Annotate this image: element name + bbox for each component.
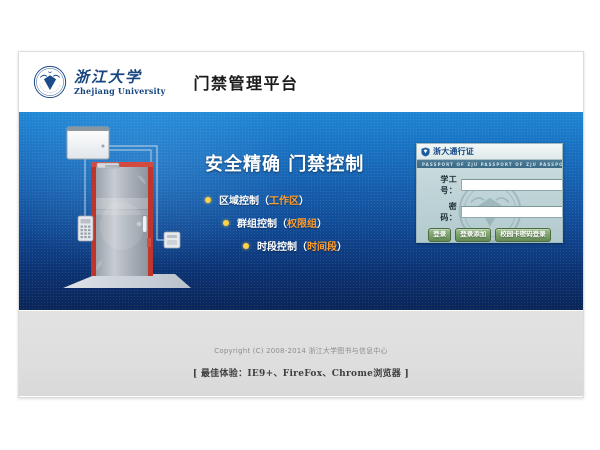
account-input[interactable] [461,179,563,191]
bullet-dot-icon [205,197,211,203]
copyright-text: Copyright (C) 2008-2014 浙江大学图书与信息中心 [19,311,583,356]
bullet-dot-icon [243,243,249,249]
password-field-label: 密 码： [424,201,457,223]
login-panel-titlebar: 浙大通行证 [417,144,562,160]
access-control-door-illustration [39,120,199,305]
feature-list: 区域控制（工作区） 群组控制（权限组） 时段控制（时间段） [205,192,420,253]
account-field-label: 学工号： [424,174,457,196]
login-button[interactable]: 登录 [428,228,451,242]
feature-item-area-control: 区域控制（工作区） [205,192,420,207]
feature-text-highlight: 时间段 [307,238,337,253]
shield-icon [421,147,430,157]
login-field-row-account: 学工号： [424,174,555,196]
password-input[interactable] [461,206,563,218]
page-root: 浙江大学 Zhejiang University 门禁管理平台 [0,0,600,450]
feature-text-suffix: ） [317,215,327,230]
login-panel-subbar: PASSPORT OF ZJU PASSPORT OF ZJU PASSPORT… [417,160,562,168]
slogan-block: 安全精确 门禁控制 区域控制（工作区） 群组控制（权限组） 时段控制（时间段） [205,150,420,261]
feature-text-suffix: ） [299,192,309,207]
feature-text-prefix: 群组控制（ [237,215,287,230]
login-panel: 浙大通行证 PASSPORT OF ZJU PASSPORT OF ZJU PA… [416,143,563,243]
login-panel-subbar-text: PASSPORT OF ZJU PASSPORT OF ZJU PASSPORT… [417,162,562,167]
feature-item-group-control: 群组控制（权限组） [205,215,420,230]
site-header: 浙江大学 Zhejiang University 门禁管理平台 [19,52,583,112]
login-add-button[interactable]: 登录添加 [455,228,491,242]
feature-item-time-control: 时段控制（时间段） [205,238,420,253]
feature-text-highlight: 权限组 [287,215,317,230]
feature-text-highlight: 工作区 [269,192,299,207]
site-footer: Copyright (C) 2008-2014 浙江大学图书与信息中心 [ 最佳… [19,310,583,396]
content-card: 浙江大学 Zhejiang University 门禁管理平台 [18,51,584,398]
banner-slogan: 安全精确 门禁控制 [205,150,420,176]
feature-text-prefix: 区域控制（ [219,192,269,207]
login-button-row: 登录 登录添加 校园卡密码登录 [424,228,555,242]
campus-card-login-button[interactable]: 校园卡密码登录 [495,228,551,242]
browser-compatibility-note: [ 最佳体验：IE9+、FireFox、Chrome浏览器 ] [19,368,583,380]
university-name-cn: 浙江大学 [74,69,166,86]
login-field-row-password: 密 码： [424,201,555,223]
feature-text-prefix: 时段控制（ [257,238,307,253]
university-name-block: 浙江大学 Zhejiang University [74,69,166,96]
login-panel-title: 浙大通行证 [433,147,474,156]
zju-seal-icon [33,65,67,99]
university-name-en: Zhejiang University [74,86,166,96]
bullet-dot-icon [223,220,229,226]
page-title: 门禁管理平台 [194,70,299,94]
hero-banner: 安全精确 门禁控制 区域控制（工作区） 群组控制（权限组） 时段控制（时间段） [19,112,583,310]
feature-text-suffix: ） [337,238,347,253]
login-form: 学工号： 密 码： 登录 登录添加 校园卡密码登录 [417,168,562,242]
